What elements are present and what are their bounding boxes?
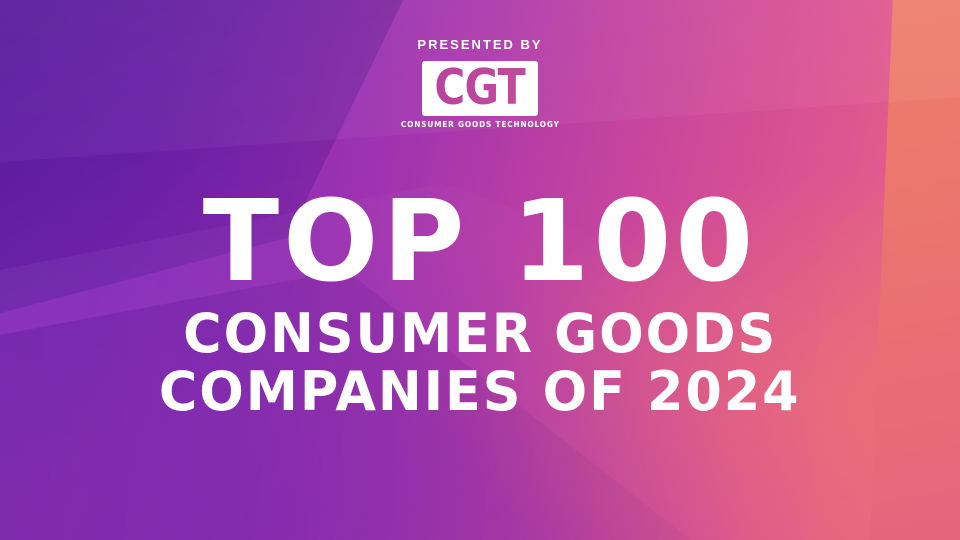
page-title: TOP 100: [203, 191, 757, 294]
presented-by-block: PRESENTED BY CGT CONSUMER GOODS TECHNOLO…: [394, 38, 567, 129]
headline-block: TOP 100 CONSUMER GOODS COMPANIES OF 2024: [0, 191, 960, 420]
cgt-logo: CGT CONSUMER GOODS TECHNOLOGY: [394, 61, 567, 129]
cgt-logo-mark: CGT: [422, 61, 538, 116]
presented-by-label: PRESENTED BY: [417, 38, 542, 51]
poster-content: PRESENTED BY CGT CONSUMER GOODS TECHNOLO…: [0, 0, 960, 540]
poster-canvas: PRESENTED BY CGT CONSUMER GOODS TECHNOLO…: [0, 0, 960, 540]
cgt-logo-tagline: CONSUMER GOODS TECHNOLOGY: [401, 121, 560, 129]
cgt-logo-letters: CGT: [435, 63, 526, 114]
subtitle-line-2: COMPANIES OF 2024: [159, 364, 801, 420]
subtitle-line-1: CONSUMER GOODS: [183, 306, 777, 362]
